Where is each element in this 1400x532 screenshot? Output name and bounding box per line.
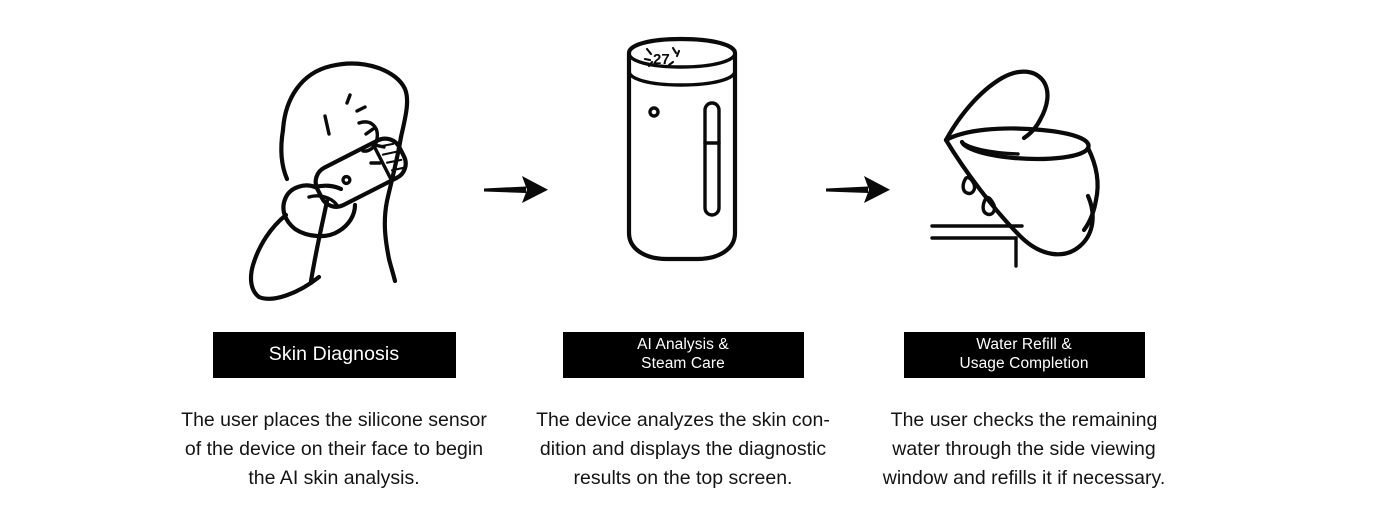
- caption-line: dition and displays the diagnostic: [536, 435, 830, 464]
- caption-line: The user checks the remaining: [883, 406, 1166, 435]
- step-label-line: AI Analysis &: [637, 336, 729, 355]
- step-label-line: Skin Diagnosis: [269, 343, 399, 367]
- top-screen-display: 27: [645, 48, 679, 68]
- caption-line: window and refills it if necessary.: [883, 464, 1166, 493]
- flow-step-skin-diagnosis: Skin Diagnosis The user places the silic…: [156, 0, 512, 532]
- illustration-device-analysis: 27: [512, 0, 854, 300]
- screen-value: 27: [653, 51, 670, 68]
- water-drops: [963, 177, 994, 214]
- step-caption-ai-analysis: The device analyzes the skin con- dition…: [536, 406, 830, 493]
- counter-edge-lines: [932, 226, 1022, 266]
- step-label-ai-analysis: AI Analysis & Steam Care: [563, 332, 804, 378]
- step-label-line: Water Refill &: [976, 336, 1072, 355]
- caption-line: The user places the silicone sensor: [181, 406, 487, 435]
- step-caption-water-refill: The user checks the remaining water thro…: [883, 406, 1166, 493]
- caption-line: the AI skin analysis.: [181, 464, 487, 493]
- step-caption-skin-diagnosis: The user places the silicone sensor of t…: [181, 406, 487, 493]
- silicone-sensor-device: [310, 133, 411, 212]
- caption-line: of the device on their face to begin: [181, 435, 487, 464]
- illustration-skin-diagnosis: [156, 0, 512, 300]
- step-label-water-refill: Water Refill & Usage Completion: [904, 332, 1145, 378]
- usage-flow-diagram: Skin Diagnosis The user places the silic…: [0, 0, 1400, 532]
- hand-sketch: [251, 185, 355, 298]
- illustration-water-refill: [854, 0, 1194, 300]
- step-label-skin-diagnosis: Skin Diagnosis: [213, 332, 456, 378]
- device-button-dot: [650, 108, 658, 116]
- flow-step-water-refill: Water Refill & Usage Completion The user…: [854, 0, 1194, 532]
- flow-step-ai-analysis: 27: [512, 0, 854, 532]
- caption-line: water through the side viewing: [883, 435, 1166, 464]
- step-label-line: Usage Completion: [959, 355, 1088, 374]
- caption-line: results on the top screen.: [536, 464, 830, 493]
- side-viewing-window: [705, 103, 719, 215]
- step-label-line: Steam Care: [641, 355, 725, 374]
- caption-line: The device analyzes the skin con-: [536, 406, 830, 435]
